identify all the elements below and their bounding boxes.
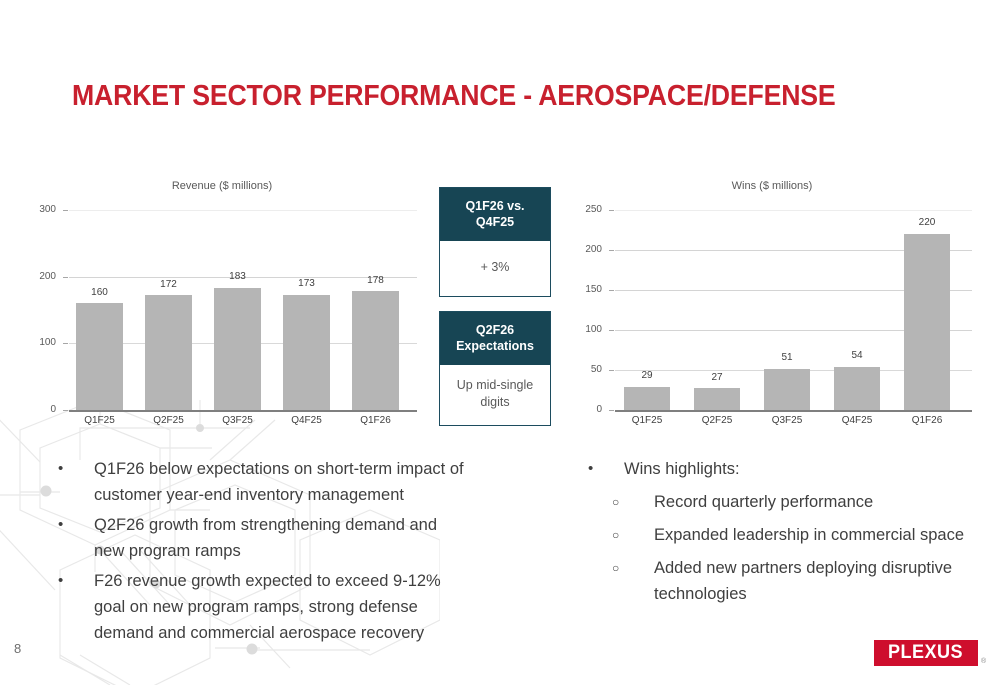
xlabel-revenue-q1f25: Q1F25 <box>72 415 127 426</box>
bullet-right-4-text: Added new partners deploying disruptive … <box>654 555 974 607</box>
callout-q1f26-vs-q4f25: Q1F26 vs. Q4F25 + 3% <box>439 187 551 297</box>
callout-q2f26-expectations: Q2F26 Expectations Up mid-single digits <box>439 311 551 426</box>
bullet-list-right: • Wins highlights: ○ Record quarterly pe… <box>588 456 988 607</box>
ytick-label-100: 100 <box>26 337 56 348</box>
bullet-left-3-text: F26 revenue growth expected to exceed 9-… <box>94 568 452 646</box>
bullet-left-3: • F26 revenue growth expected to exceed … <box>58 568 488 646</box>
bullet-marker-hollow: ○ <box>612 489 654 515</box>
ytick-mark-0 <box>63 410 68 411</box>
bullet-left-1: • Q1F26 below expectations on short-term… <box>58 456 488 508</box>
page-number: 8 <box>14 641 21 656</box>
callout-header-expectations: Q2F26 Expectations <box>440 312 550 365</box>
callout-body-exp-line2: digits <box>445 394 545 411</box>
ytick-label-200: 200 <box>26 271 56 282</box>
wins-x-axis-line <box>615 410 972 412</box>
bullet-right-3: ○ Expanded leadership in commercial spac… <box>612 522 988 548</box>
xlabel-revenue-q2f25: Q2F25 <box>141 415 196 426</box>
plexus-logo: PLEXUS <box>874 640 978 666</box>
gridline-300 <box>69 210 417 211</box>
wins-ytick-label-50: 50 <box>572 364 602 375</box>
bullet-right-3-text: Expanded leadership in commercial space <box>654 522 988 548</box>
bar-wins-q4f25 <box>834 367 880 410</box>
x-axis-line <box>69 410 417 412</box>
bar-wins-q3f25 <box>764 369 810 410</box>
wins-chart: Wins ($ millions) 250 200 150 100 50 0 2… <box>572 180 980 430</box>
plexus-logo-text: PLEXUS <box>888 642 963 664</box>
bar-revenue-q3f25 <box>214 288 261 410</box>
ytick-label-0: 0 <box>26 404 56 415</box>
wins-gridline-250 <box>615 210 972 211</box>
xlabel-revenue-q3f25: Q3F25 <box>210 415 265 426</box>
bar-revenue-q1f25 <box>76 303 123 410</box>
bar-value-revenue-q1f25: 160 <box>76 287 123 298</box>
callout-body-exp-line1: Up mid-single <box>445 377 545 394</box>
bullet-marker-hollow: ○ <box>612 555 654 607</box>
bar-value-wins-q4f25: 54 <box>834 350 880 361</box>
bullet-right-4: ○ Added new partners deploying disruptiv… <box>612 555 988 607</box>
bullet-right-2: ○ Record quarterly performance <box>612 489 988 515</box>
xlabel-revenue-q4f25: Q4F25 <box>279 415 334 426</box>
bar-value-wins-q2f25: 27 <box>694 372 740 383</box>
bullet-left-1-text: Q1F26 below expectations on short-term i… <box>94 456 474 508</box>
bar-revenue-q2f25 <box>145 295 192 410</box>
wins-ytick-label-150: 150 <box>572 284 602 295</box>
wins-ytick-mark-0 <box>609 410 614 411</box>
bar-value-wins-q1f25: 29 <box>624 370 670 381</box>
revenue-chart: Revenue ($ millions) 300 200 100 0 160 1… <box>22 180 422 430</box>
bullet-list-left: • Q1F26 below expectations on short-term… <box>58 456 488 646</box>
ytick-mark-100 <box>63 343 68 344</box>
bullet-right-1: • Wins highlights: <box>588 456 988 482</box>
callout-header-exp-line2: Expectations <box>444 338 546 354</box>
ytick-mark-300 <box>63 210 68 211</box>
bar-value-revenue-q2f25: 172 <box>145 279 192 290</box>
bullet-left-2-text: Q2F26 growth from strengthening demand a… <box>94 512 454 564</box>
bar-value-revenue-q4f25: 173 <box>283 278 330 289</box>
wins-ytick-mark-200 <box>609 250 614 251</box>
bar-revenue-q4f25 <box>283 295 330 410</box>
bar-value-wins-q3f25: 51 <box>764 352 810 363</box>
callout-header-line1: Q1F26 vs. <box>444 198 546 214</box>
bar-wins-q1f25 <box>624 387 670 410</box>
bar-wins-q2f25 <box>694 388 740 410</box>
bullet-right-1-text: Wins highlights: <box>624 456 964 482</box>
xlabel-wins-q2f25: Q2F25 <box>689 415 745 426</box>
wins-ytick-label-100: 100 <box>572 324 602 335</box>
bullet-left-2: • Q2F26 growth from strengthening demand… <box>58 512 488 564</box>
bullet-marker: • <box>58 568 94 646</box>
wins-ytick-mark-100 <box>609 330 614 331</box>
bar-revenue-q1f26 <box>352 291 399 410</box>
callout-header-line2: Q4F25 <box>444 214 546 230</box>
wins-ytick-label-200: 200 <box>572 244 602 255</box>
page-title: MARKET SECTOR PERFORMANCE - AEROSPACE/DE… <box>72 80 836 113</box>
bullet-right-2-text: Record quarterly performance <box>654 489 984 515</box>
bar-value-wins-q1f26: 220 <box>904 217 950 228</box>
registered-mark-icon: ® <box>981 658 986 665</box>
bullet-marker-hollow: ○ <box>612 522 654 548</box>
callout-value-expectations: Up mid-single digits <box>440 365 550 425</box>
wins-ytick-mark-50 <box>609 370 614 371</box>
wins-chart-title: Wins ($ millions) <box>572 180 972 192</box>
bullet-marker: • <box>58 512 94 564</box>
xlabel-wins-q4f25: Q4F25 <box>829 415 885 426</box>
wins-ytick-label-250: 250 <box>572 204 602 215</box>
callout-value-comparison: + 3% <box>440 241 550 296</box>
bar-value-revenue-q1f26: 178 <box>352 275 399 286</box>
callout-header-comparison: Q1F26 vs. Q4F25 <box>440 188 550 241</box>
bullet-marker: • <box>58 456 94 508</box>
xlabel-wins-q3f25: Q3F25 <box>759 415 815 426</box>
callout-header-exp-line1: Q2F26 <box>444 322 546 338</box>
bullet-marker: • <box>588 456 624 482</box>
ytick-label-300: 300 <box>26 204 56 215</box>
revenue-chart-title: Revenue ($ millions) <box>22 180 422 192</box>
bar-wins-q1f26 <box>904 234 950 410</box>
xlabel-wins-q1f26: Q1F26 <box>899 415 955 426</box>
slide-canvas: MARKET SECTOR PERFORMANCE - AEROSPACE/DE… <box>0 0 1000 685</box>
xlabel-wins-q1f25: Q1F25 <box>619 415 675 426</box>
ytick-mark-200 <box>63 277 68 278</box>
wins-ytick-label-0: 0 <box>572 404 602 415</box>
xlabel-revenue-q1f26: Q1F26 <box>348 415 403 426</box>
wins-ytick-mark-150 <box>609 290 614 291</box>
bar-value-revenue-q3f25: 183 <box>214 271 261 282</box>
wins-ytick-mark-250 <box>609 210 614 211</box>
